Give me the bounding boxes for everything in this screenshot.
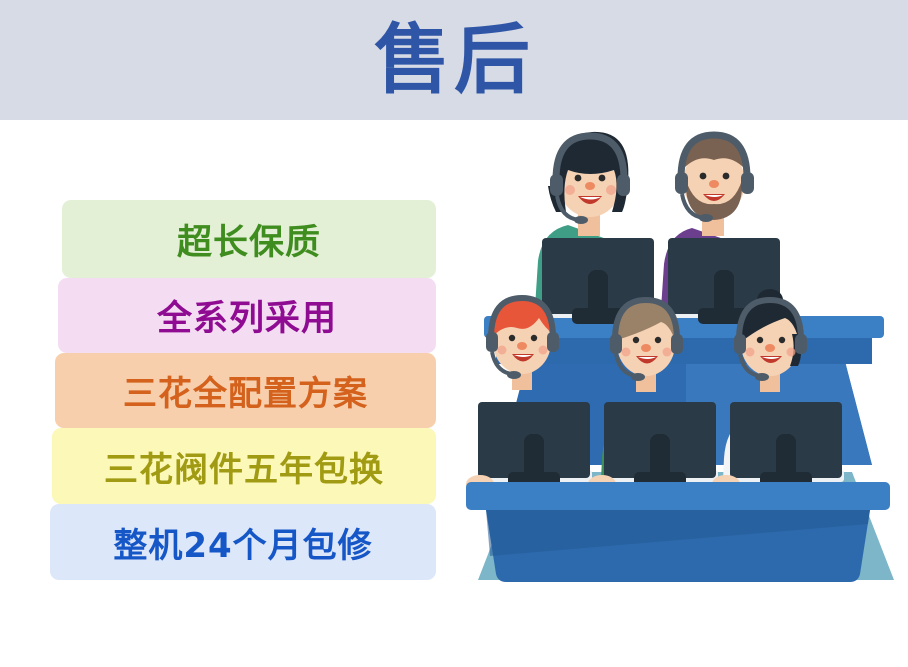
- header-band: 售后: [0, 0, 908, 120]
- feature-full-series[interactable]: 全系列采用: [58, 278, 436, 353]
- feature-label: 三花全配置方案: [123, 366, 368, 415]
- desk-front-icon: [466, 482, 890, 582]
- feature-label: 三花阀件五年包换: [104, 442, 384, 491]
- call-center-illustration: [460, 120, 908, 667]
- monitor-front-right-icon: [730, 402, 842, 488]
- content-area: 超长保质 全系列采用 三花全配置方案 三花阀件五年包换 整机24个月包修: [0, 120, 908, 667]
- feature-label: 全系列采用: [157, 290, 337, 341]
- feature-label: 超长保质: [177, 214, 321, 265]
- feature-warranty-length[interactable]: 超长保质: [62, 200, 436, 278]
- monitor-front-mid-icon: [604, 402, 716, 488]
- monitor-front-left-icon: [478, 402, 590, 488]
- feature-list: 超长保质 全系列采用 三花全配置方案 三花阀件五年包换 整机24个月包修: [0, 120, 460, 667]
- page-title: 售后: [0, 10, 908, 110]
- feature-sanhua-full-config[interactable]: 三花全配置方案: [55, 353, 436, 428]
- feature-unit-24m-repair[interactable]: 整机24个月包修: [50, 504, 436, 580]
- feature-label: 整机24个月包修: [113, 518, 372, 567]
- feature-sanhua-valve-5y[interactable]: 三花阀件五年包换: [52, 428, 436, 504]
